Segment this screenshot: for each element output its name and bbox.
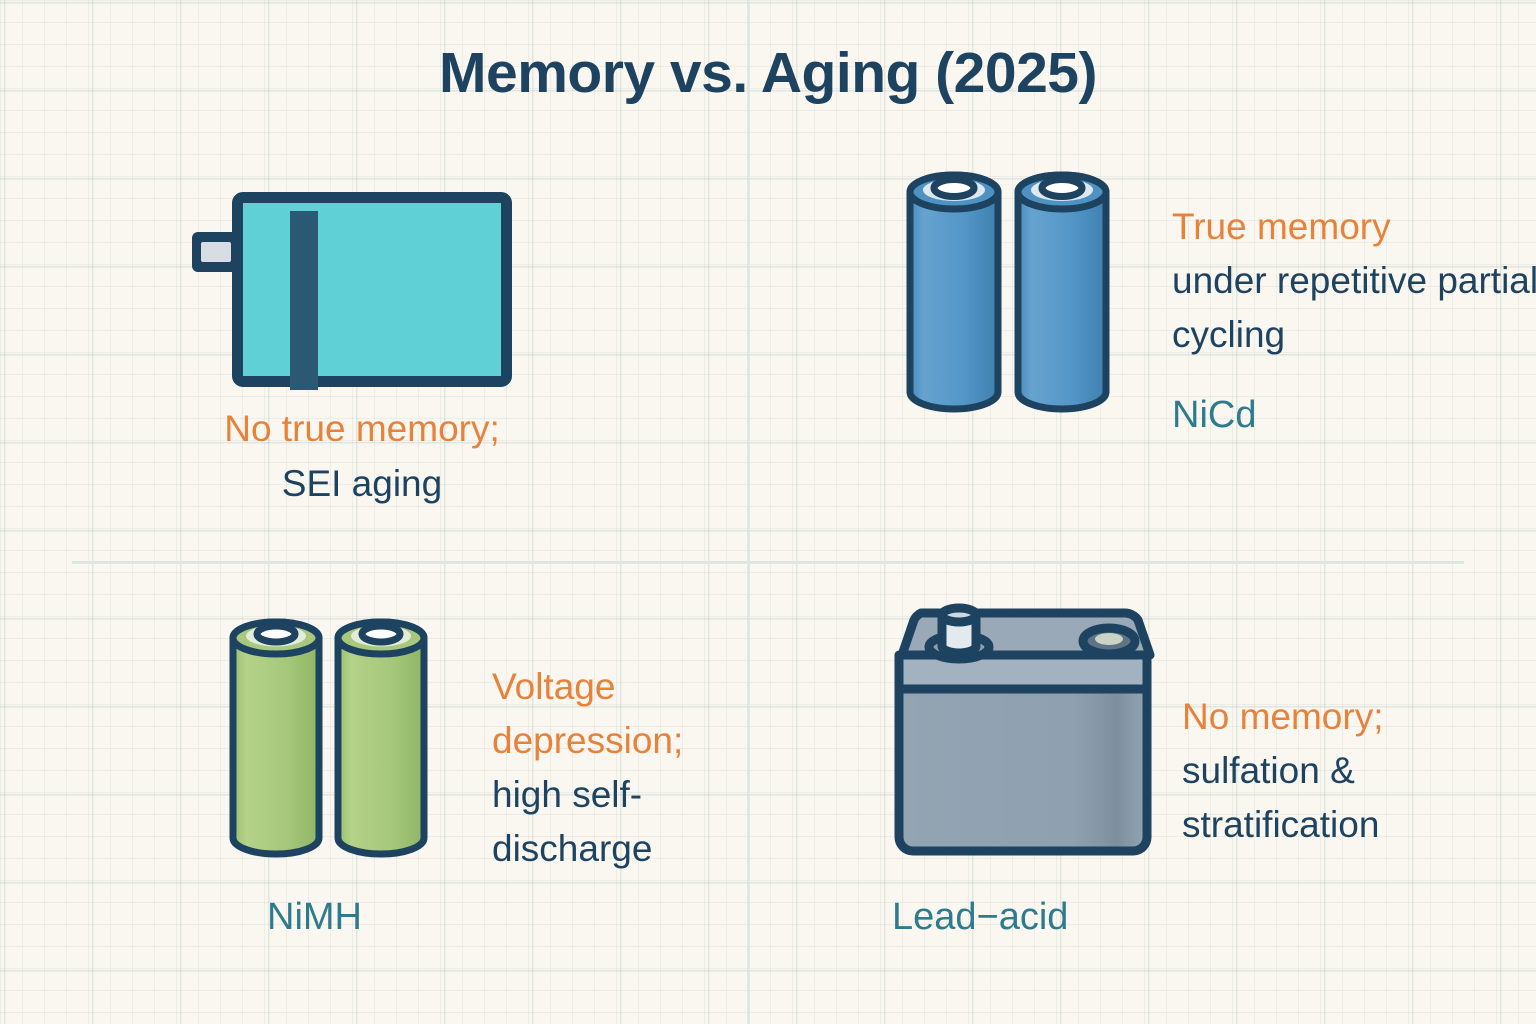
lead-acid-battery-icon: [887, 595, 1172, 875]
liion-detail: SEI aging: [72, 457, 652, 512]
horizontal-divider: [72, 561, 1464, 564]
liion-highlight: No true memory;: [72, 402, 652, 457]
lead-chemistry-label: Lead−acid: [892, 896, 1068, 939]
nicd-detail: under repetitive partial cycling: [1172, 254, 1536, 362]
cylindrical-cells-icon: [227, 610, 432, 872]
nimh-detail: high self-discharge: [492, 768, 762, 876]
nicd-highlight: True memory: [1172, 200, 1536, 254]
nimh-highlight: Voltage depression;: [492, 660, 762, 768]
quadrant-liion: No true memory; SEI aging: [72, 150, 744, 560]
battery-spine: [290, 211, 318, 390]
nicd-chemistry-label: NiCd: [1172, 388, 1536, 443]
quadrant-lead-acid: No memory; sulfation & stratification Le…: [752, 570, 1464, 970]
nicd-caption: True memory under repetitive partial cyc…: [1172, 200, 1536, 444]
liion-caption: No true memory; SEI aging: [72, 402, 652, 512]
battery-terminal-tab-inner: [201, 242, 231, 262]
lead-highlight: No memory;: [1182, 690, 1512, 744]
page-title: Memory vs. Aging (2025): [0, 40, 1536, 106]
nimh-caption: Voltage depression; high self-discharge: [492, 660, 762, 876]
pouch-battery-icon: [192, 192, 512, 387]
lead-caption: No memory; sulfation & stratification: [1182, 690, 1512, 852]
nimh-chemistry-label: NiMH: [267, 896, 362, 939]
lead-detail: sulfation & stratification: [1182, 744, 1512, 852]
battery-body: [232, 192, 512, 387]
quadrant-nicd: True memory under repetitive partial cyc…: [752, 150, 1464, 560]
cylindrical-cells-icon: [904, 162, 1114, 427]
quadrant-nimh: Voltage depression; high self-discharge …: [72, 570, 744, 970]
